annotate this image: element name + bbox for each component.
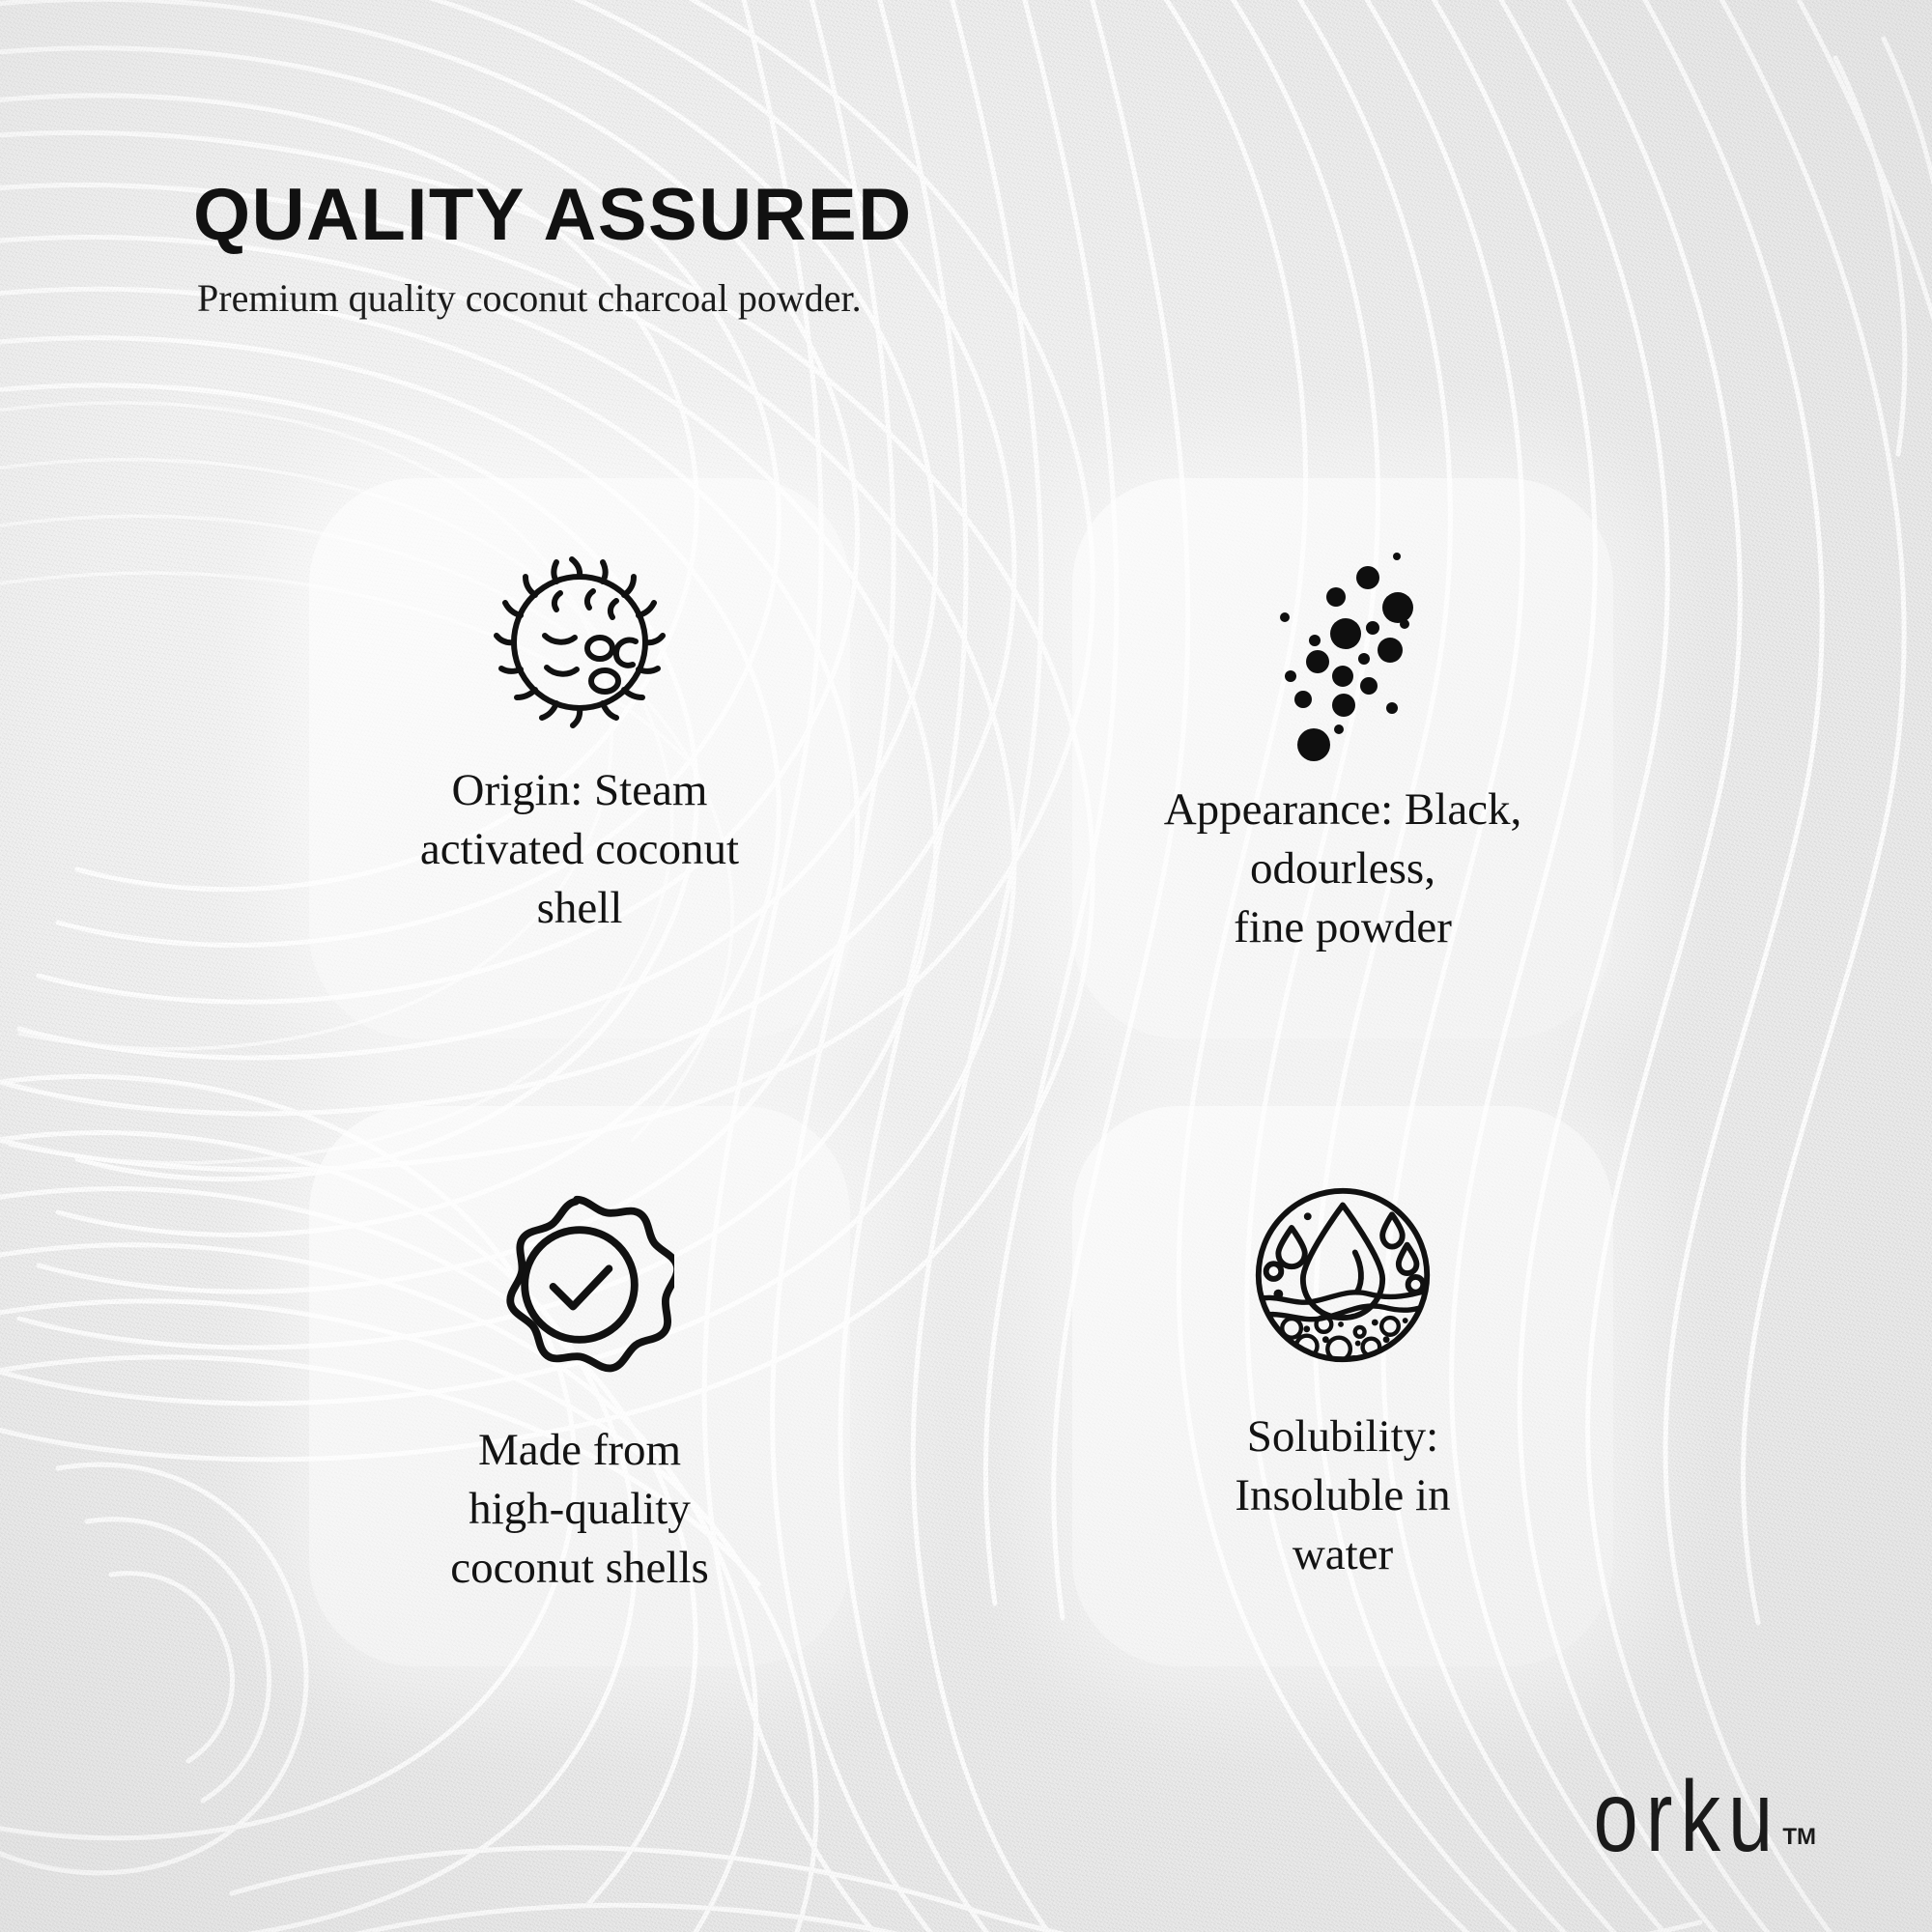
card-line-3: water [1293, 1529, 1393, 1579]
card-line-1: Solubility: [1247, 1411, 1439, 1462]
brand-wordmark: orku [1593, 1772, 1780, 1864]
trademark-symbol: TM [1782, 1824, 1816, 1851]
page-subtitle: Premium quality coconut charcoal powder. [197, 277, 1352, 320]
feature-card-origin: Origin: Steamactivated coconutshell [309, 478, 850, 1038]
card-line-2: odourless, [1250, 843, 1435, 894]
brand-logo: orku TM [1547, 1772, 1816, 1864]
card-line-3: shell [537, 883, 623, 933]
quality-check-badge-icon [469, 1174, 691, 1396]
card-line-3: coconut shells [450, 1543, 709, 1593]
card-line-1: Appearance: Black, [1164, 784, 1522, 835]
page-title: QUALITY ASSURED [193, 179, 1352, 252]
card-line-3: fine powder [1234, 902, 1452, 952]
card-line-1: Origin: Steam [452, 765, 708, 815]
feature-card-appearance: Appearance: Black,odourless,fine powder [1072, 478, 1613, 1038]
quality-assured-poster: QUALITY ASSURED Premium quality coconut … [0, 0, 1932, 1932]
fine-powder-dots-icon [1232, 531, 1454, 773]
card-line-1: Made from [478, 1425, 681, 1475]
card-line-2: Insoluble in [1235, 1470, 1450, 1520]
feature-card-label: Appearance: Black,odourless,fine powder [1116, 781, 1570, 957]
coconut-shell-icon [469, 531, 691, 753]
feature-card-grid: Origin: Steamactivated coconutshell [309, 478, 1662, 1666]
feature-card-label: Made fromhigh-qualitycoconut shells [353, 1421, 807, 1598]
feature-card-label: Origin: Steamactivated coconutshell [353, 761, 807, 938]
water-insoluble-icon [1232, 1164, 1454, 1386]
feature-card-solubility: Solubility:Insoluble inwater [1072, 1106, 1613, 1666]
feature-card-made-from: Made fromhigh-qualitycoconut shells [309, 1106, 850, 1666]
poster-header: QUALITY ASSURED Premium quality coconut … [193, 179, 1352, 320]
card-line-2: activated coconut [420, 824, 739, 874]
feature-card-label: Solubility:Insoluble inwater [1116, 1407, 1570, 1584]
card-line-2: high-quality [469, 1484, 691, 1534]
